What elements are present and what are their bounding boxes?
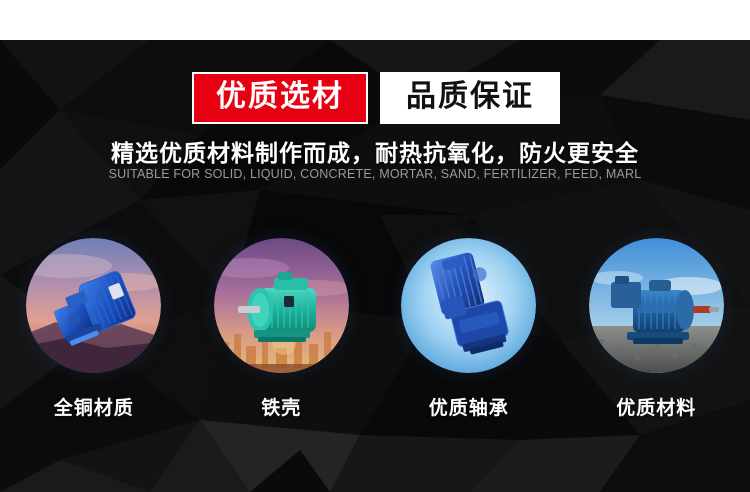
product-feature-banner: 优质选材 品质保证 精选优质材料制作而成，耐热抗氧化，防火更安全 SUITABL… — [0, 0, 750, 492]
headline-secondary-box: 品质保证 — [380, 72, 560, 124]
feature-image-circle — [26, 238, 161, 373]
feature-item: 全铜材质 — [0, 238, 188, 420]
feature-list: 全铜材质 — [0, 238, 750, 420]
feature-item: 铁壳 — [188, 238, 376, 420]
feature-label: 铁壳 — [261, 393, 301, 420]
feature-label: 优质材料 — [616, 393, 696, 420]
top-white-strip — [0, 0, 750, 40]
feature-label: 全铜材质 — [54, 393, 134, 420]
feature-image-circle — [589, 238, 724, 373]
subtitle-chinese: 精选优质材料制作而成，耐热抗氧化，防火更安全 — [0, 134, 750, 168]
subtitle-english: SUITABLE FOR SOLID, LIQUID, CONCRETE, MO… — [0, 167, 750, 181]
headline-row: 优质选材 品质保证 — [192, 72, 560, 124]
feature-item: 优质轴承 — [375, 238, 563, 420]
headline-primary-box: 优质选材 — [192, 72, 368, 124]
feature-image-circle — [401, 238, 536, 373]
feature-image-circle — [214, 238, 349, 373]
feature-label: 优质轴承 — [429, 393, 509, 420]
feature-item: 优质材料 — [563, 238, 750, 420]
